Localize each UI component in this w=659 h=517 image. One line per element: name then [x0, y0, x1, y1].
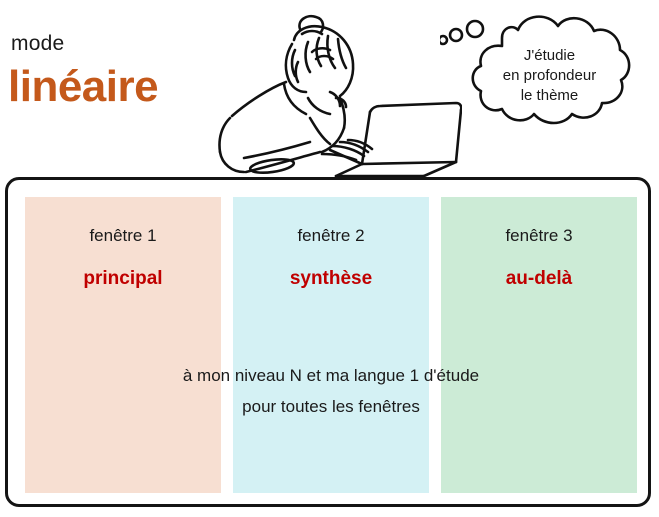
window-column-2-keyword: synthèse: [233, 267, 429, 291]
thought-bubble: J'étudie en profondeur le thème: [440, 4, 659, 144]
window-column-3-title: fenêtre 3: [441, 225, 637, 247]
window-column-1[interactable]: fenêtre 1 principal: [25, 197, 221, 493]
windows-panel: fenêtre 1 principal fenêtre 2 synthèse f…: [5, 177, 651, 507]
window-column-2[interactable]: fenêtre 2 synthèse: [233, 197, 429, 493]
window-column-3-keyword: au-delà: [441, 267, 637, 291]
page-title: linéaire: [8, 62, 158, 112]
window-column-2-title: fenêtre 2: [233, 225, 429, 247]
window-column-1-title: fenêtre 1: [25, 225, 221, 247]
window-column-3[interactable]: fenêtre 3 au-delà: [441, 197, 637, 493]
windows-columns: fenêtre 1 principal fenêtre 2 synthèse f…: [25, 197, 637, 493]
person-studying-at-laptop-illustration: [212, 6, 462, 182]
mode-label: mode: [11, 32, 64, 56]
window-column-1-keyword: principal: [25, 267, 221, 291]
